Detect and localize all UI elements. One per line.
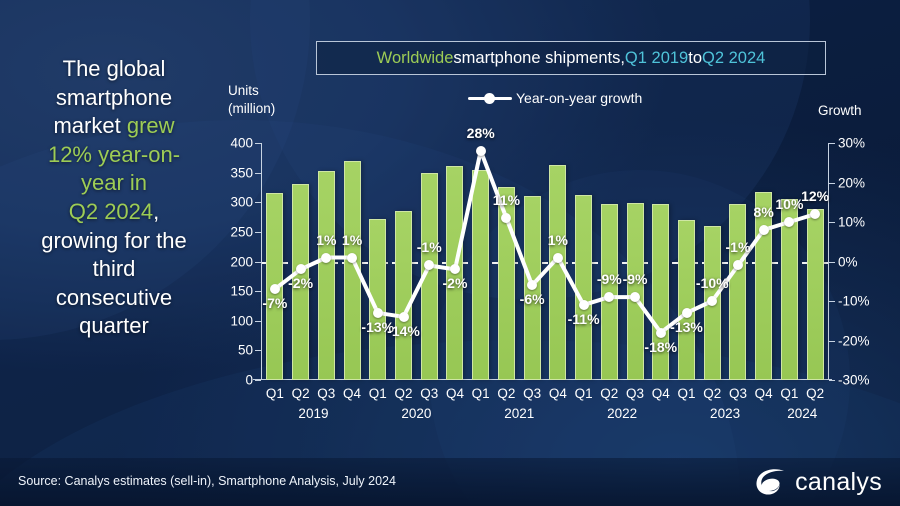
headline-line: third — [8, 255, 220, 284]
legend-line-marker-icon — [468, 92, 512, 104]
y-axis-tick-label: 100 — [230, 313, 253, 328]
title-part-end-quarter: Q2 2024 — [702, 49, 765, 68]
headline-line: year in — [8, 169, 220, 198]
headline-line: Q2 2024, — [8, 198, 220, 227]
data-label: -1% — [726, 239, 751, 255]
x-axis-year-label: 2021 — [504, 406, 534, 421]
data-label: -9% — [597, 271, 622, 287]
left-axis-title: Units (million) — [228, 82, 275, 118]
x-axis-year-label: 2023 — [710, 406, 740, 421]
data-point — [270, 284, 280, 294]
x-axis-quarter-label: Q1 — [369, 386, 387, 401]
y-axis-tick-label: 50 — [238, 343, 253, 358]
x-axis-quarter-label: Q4 — [755, 386, 773, 401]
data-label: 1% — [316, 232, 336, 248]
data-label: -2% — [443, 275, 468, 291]
source-note: Source: Canalys estimates (sell-in), Sma… — [18, 474, 396, 488]
y-axis-tick-label: 0 — [245, 373, 253, 388]
x-axis-year-label: 2024 — [787, 406, 817, 421]
y2-axis-tick-label: -30% — [838, 373, 870, 388]
y-axis-tick-label: 200 — [230, 254, 253, 269]
headline-line: 12% year-on- — [8, 141, 220, 170]
x-axis-quarter-label: Q2 — [292, 386, 310, 401]
y-axis-tick-label: 150 — [230, 284, 253, 299]
x-axis-year-label: 2019 — [298, 406, 328, 421]
data-point — [476, 146, 486, 156]
data-label: -14% — [387, 323, 420, 339]
data-label: 28% — [467, 125, 495, 141]
canalys-logo: canalys — [754, 467, 882, 497]
title-part-subject: smartphone shipments, — [453, 49, 625, 68]
data-label: 1% — [342, 232, 362, 248]
headline-line: consecutive — [8, 284, 220, 313]
data-point — [579, 300, 589, 310]
y-axis-tick-label: 350 — [230, 165, 253, 180]
growth-line — [262, 143, 828, 380]
x-axis-quarter-label: Q3 — [420, 386, 438, 401]
data-point — [399, 312, 409, 322]
y2-axis-tick — [829, 262, 835, 263]
data-label: -10% — [696, 275, 729, 291]
canalys-swirl-icon — [754, 467, 788, 497]
x-axis-quarter-label: Q1 — [780, 386, 798, 401]
headline-line: market grew — [8, 112, 220, 141]
data-label: -18% — [644, 339, 677, 355]
x-axis-quarter-label: Q2 — [600, 386, 618, 401]
y-axis-tick-label: 400 — [230, 136, 253, 151]
y2-axis-tick — [829, 301, 835, 302]
headline-line: smartphone — [8, 84, 220, 113]
y2-axis-tick — [829, 222, 835, 223]
data-label: 8% — [754, 204, 774, 220]
data-label: -9% — [623, 271, 648, 287]
data-label: -1% — [417, 239, 442, 255]
x-axis-quarter-label: Q1 — [677, 386, 695, 401]
x-axis-quarter-label: Q1 — [472, 386, 490, 401]
x-axis-quarter-label: Q2 — [806, 386, 824, 401]
y2-axis-tick — [829, 380, 835, 381]
data-label: 10% — [775, 196, 803, 212]
data-label: 12% — [801, 188, 829, 204]
headline-line: quarter — [8, 312, 220, 341]
x-axis-year-label: 2020 — [401, 406, 431, 421]
data-point — [373, 308, 383, 318]
y2-axis-tick-label: -20% — [838, 333, 870, 348]
y-axis-tick-label: 250 — [230, 224, 253, 239]
headline-line: growing for the — [8, 227, 220, 256]
x-axis-year-label: 2022 — [607, 406, 637, 421]
x-axis-quarter-label: Q1 — [575, 386, 593, 401]
y2-axis-tick-label: 0% — [838, 254, 858, 269]
x-axis-quarter-label: Q3 — [729, 386, 747, 401]
legend-label: Year-on-year growth — [516, 90, 642, 106]
x-axis-quarter-label: Q4 — [652, 386, 670, 401]
y2-axis-tick — [829, 341, 835, 342]
title-part-worldwide: Worldwide — [377, 49, 454, 68]
headline-line: The global — [8, 55, 220, 84]
y2-axis-tick-label: -10% — [838, 294, 870, 309]
data-label: -11% — [568, 311, 600, 327]
x-axis-quarter-label: Q2 — [703, 386, 721, 401]
chart-title: Worldwide smartphone shipments, Q1 2019 … — [316, 41, 826, 75]
data-label: -13% — [670, 319, 703, 335]
title-part-to: to — [688, 49, 702, 68]
chart-plot-area: 050100150200250300350400-30%-20%-10%0%10… — [262, 143, 828, 380]
y-axis-tick-label: 300 — [230, 195, 253, 210]
data-point — [553, 253, 563, 263]
title-part-start-quarter: Q1 2019 — [625, 49, 688, 68]
data-point — [656, 328, 666, 338]
data-label: -2% — [288, 275, 313, 291]
y2-axis-line — [828, 143, 829, 380]
data-point — [347, 253, 357, 263]
right-axis-title: Growth — [818, 103, 862, 118]
y2-axis-tick-label: 10% — [838, 215, 865, 230]
x-axis-quarter-label: Q2 — [394, 386, 412, 401]
y2-axis-tick-label: 30% — [838, 136, 865, 151]
x-axis-quarter-label: Q2 — [497, 386, 515, 401]
x-axis-quarter-label: Q3 — [523, 386, 541, 401]
y2-axis-tick-label: 20% — [838, 175, 865, 190]
slide-canvas: The global smartphone market grew 12% ye… — [0, 0, 900, 506]
data-point — [682, 308, 692, 318]
x-axis-quarter-label: Q3 — [317, 386, 335, 401]
data-point — [296, 264, 306, 274]
x-axis-quarter-label: Q4 — [549, 386, 567, 401]
chart-legend: Year-on-year growth — [468, 90, 642, 106]
x-axis-quarter-label: Q4 — [343, 386, 361, 401]
y2-axis-tick — [829, 183, 835, 184]
data-label: 11% — [493, 192, 520, 208]
data-point — [321, 253, 331, 263]
x-axis-labels: Q1Q2Q3Q4Q1Q2Q3Q4Q1Q2Q3Q4Q1Q2Q3Q4Q1Q2Q3Q4… — [262, 386, 828, 434]
x-axis-quarter-label: Q1 — [266, 386, 284, 401]
x-axis-quarter-label: Q3 — [626, 386, 644, 401]
data-point — [759, 225, 769, 235]
headline-text: The global smartphone market grew 12% ye… — [8, 55, 220, 341]
brand-name: canalys — [795, 468, 882, 497]
footer-bar: Source: Canalys estimates (sell-in), Sma… — [0, 458, 900, 506]
y2-axis-tick — [829, 143, 835, 144]
data-label: -7% — [262, 295, 287, 311]
data-label: 1% — [548, 232, 568, 248]
x-axis-quarter-label: Q4 — [446, 386, 464, 401]
y-axis-tick — [255, 380, 261, 381]
data-label: -6% — [520, 291, 545, 307]
